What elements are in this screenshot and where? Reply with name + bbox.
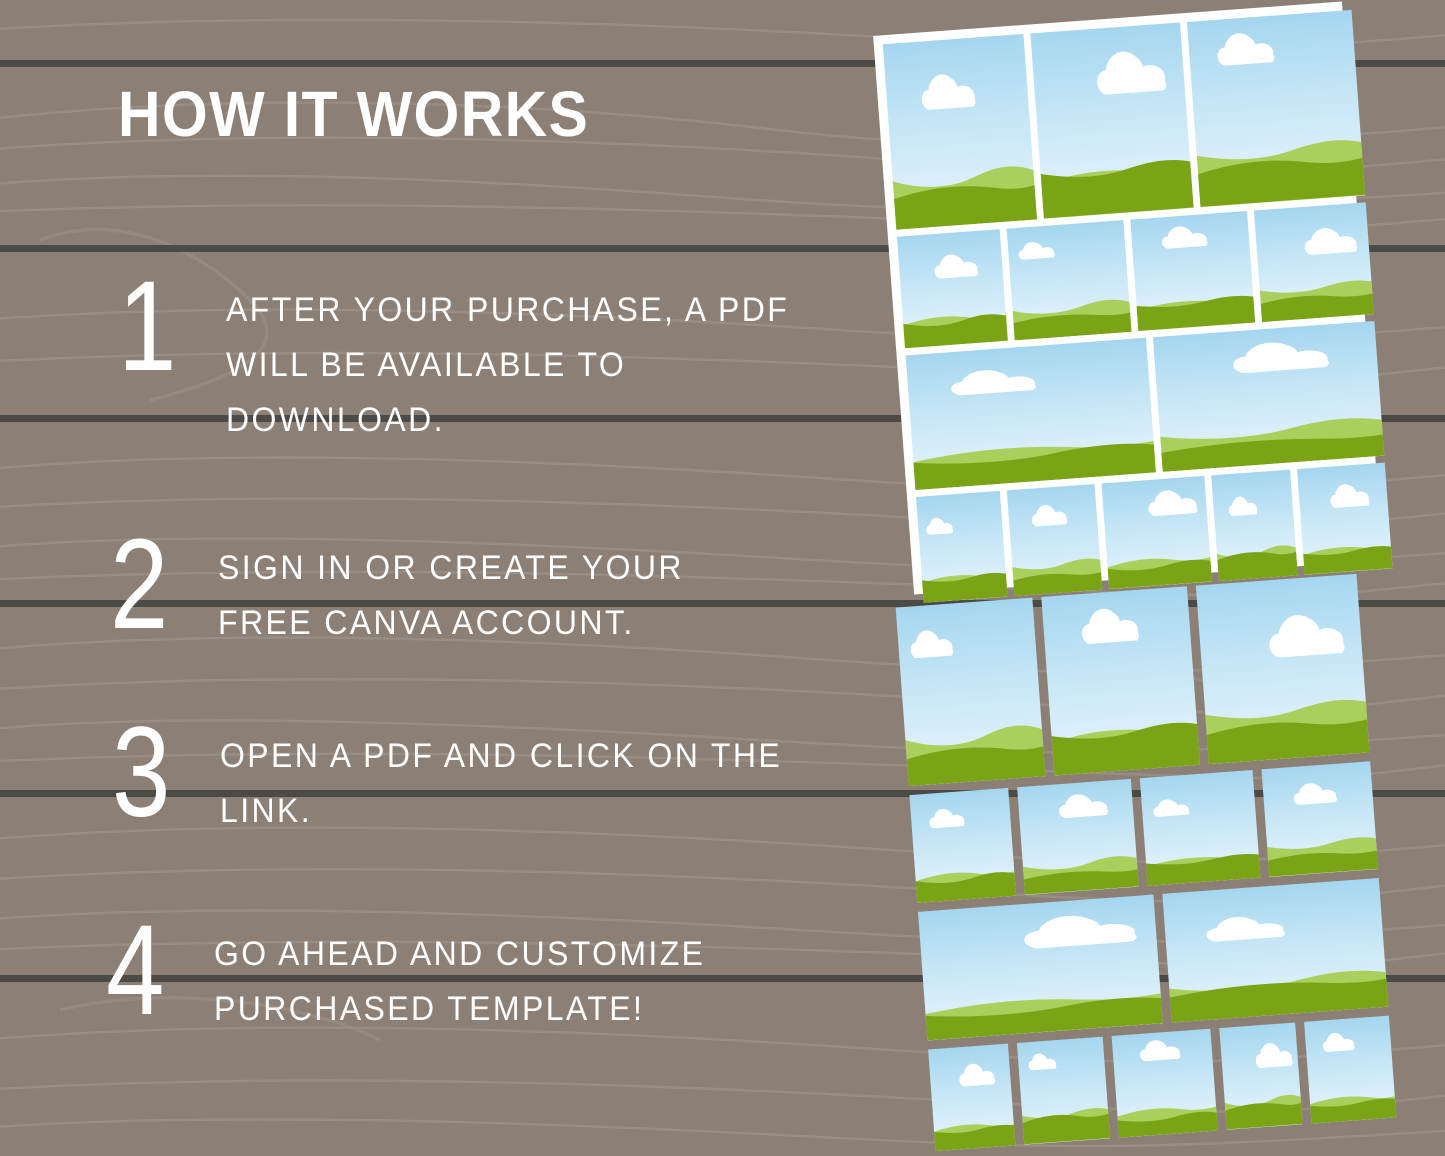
cloud-icon <box>1161 222 1214 249</box>
collage-card <box>909 788 1016 902</box>
collage-card <box>1219 1023 1302 1130</box>
collage-card <box>1017 1037 1109 1145</box>
cloud-icon <box>928 806 969 829</box>
hill-dark-icon <box>1021 1107 1110 1145</box>
cloud-icon <box>1227 494 1261 517</box>
hill-dark-icon <box>932 1119 1016 1151</box>
collage-card-grid <box>891 569 1401 1156</box>
collage-card <box>928 1044 1016 1151</box>
collage-card-row <box>879 6 1369 233</box>
cloud-icon <box>926 515 957 536</box>
collage-card <box>1211 469 1297 581</box>
cloud-icon <box>1028 1051 1061 1071</box>
step-item: 1 AFTER YOUR PURCHASE, A PDF WILL BE AVA… <box>118 272 801 437</box>
collage-card <box>1297 462 1393 575</box>
step-text: SIGN IN OR CREATE YOUR FREE CANVA ACCOUN… <box>218 530 763 650</box>
step-item: 2 SIGN IN OR CREATE YOUR FREE CANVA ACCO… <box>110 530 763 644</box>
collage-card <box>1041 586 1200 776</box>
step-number: 1 <box>118 272 207 382</box>
cloud-icon <box>933 250 984 279</box>
instructions-column: HOW IT WORKS 1 AFTER YOUR PURCHASE, A PD… <box>0 0 860 1156</box>
cloud-icon <box>1268 608 1356 660</box>
collage-card <box>1162 878 1388 1023</box>
collage-card <box>1304 1016 1396 1124</box>
collage-card-grid <box>879 6 1396 606</box>
hill-dark-icon <box>900 306 1007 348</box>
collage-card <box>1101 475 1211 589</box>
poster-canvas: HOW IT WORKS 1 AFTER YOUR PURCHASE, A PD… <box>0 0 1445 1156</box>
hill-dark-icon <box>903 732 1046 787</box>
hill-dark-icon <box>1048 711 1201 776</box>
cloud-icon <box>910 626 960 660</box>
step-item: 4 GO AHEAD AND CUSTOMIZE PURCHASED TEMPL… <box>106 916 799 1030</box>
hill-dark-icon <box>1036 148 1193 219</box>
cloud-icon <box>1018 239 1060 261</box>
collage-card <box>1262 762 1378 877</box>
cloud-icon <box>1292 780 1343 807</box>
collage-card <box>918 894 1163 1040</box>
collage-card <box>1187 10 1365 207</box>
cloud-icon <box>1147 486 1204 518</box>
step-number: 2 <box>110 530 199 640</box>
cloud-icon <box>920 69 983 112</box>
step-number: 3 <box>112 718 201 828</box>
step-number: 4 <box>106 916 195 1026</box>
cloud-icon <box>1322 1030 1359 1053</box>
step-text: GO AHEAD AND CUSTOMIZE PURCHASED TEMPLAT… <box>214 916 799 1036</box>
collage-card <box>1030 22 1194 218</box>
steps-list: 1 AFTER YOUR PURCHASE, A PDF WILL BE AVA… <box>0 0 860 1156</box>
collage-card <box>1130 211 1255 331</box>
collage-card <box>1006 220 1131 340</box>
collage-card <box>906 338 1156 490</box>
cloud-icon <box>1095 45 1176 97</box>
cloud-icon <box>1022 907 1151 950</box>
hill-dark-icon <box>1308 1093 1396 1124</box>
collage-card <box>1140 770 1261 885</box>
cloud-icon <box>1205 911 1296 943</box>
collage-card <box>1254 202 1374 322</box>
step-text: OPEN A PDF AND CLICK ON THE LINK. <box>220 718 785 838</box>
cloud-icon <box>1231 336 1342 376</box>
cloud-icon <box>1255 1040 1299 1070</box>
step-item: 3 OPEN A PDF AND CLICK ON THE LINK. <box>112 718 785 832</box>
bottom-collage-preview <box>896 574 1397 1151</box>
collage-card <box>1017 779 1138 894</box>
collage-card <box>1196 574 1369 765</box>
cloud-icon <box>1031 501 1072 527</box>
hill-dark-icon <box>913 864 1016 902</box>
collage-card <box>896 598 1046 787</box>
cloud-icon <box>1139 1037 1186 1063</box>
collage-card <box>1111 1029 1218 1138</box>
collage-card <box>916 491 1007 603</box>
cloud-icon <box>958 1061 1000 1088</box>
cloud-icon <box>1058 790 1115 819</box>
hill-dark-icon <box>890 169 1037 230</box>
step-text: AFTER YOUR PURCHASE, A PDF WILL BE AVAIL… <box>226 272 801 447</box>
cloud-icon <box>1153 796 1195 817</box>
cloud-icon <box>950 364 1048 397</box>
hill-dark-icon <box>1223 1094 1302 1130</box>
cloud-icon <box>1303 224 1364 257</box>
cloud-icon <box>1216 28 1283 67</box>
cloud-icon <box>1330 480 1376 509</box>
collage-card <box>897 229 1008 348</box>
cloud-icon <box>1080 604 1147 646</box>
top-collage-preview <box>873 2 1383 595</box>
collage-card <box>1006 484 1102 597</box>
hill-dark-icon <box>1133 289 1254 331</box>
collage-card <box>883 34 1037 230</box>
collage-card <box>1153 321 1384 472</box>
collage-card-row <box>891 569 1375 791</box>
